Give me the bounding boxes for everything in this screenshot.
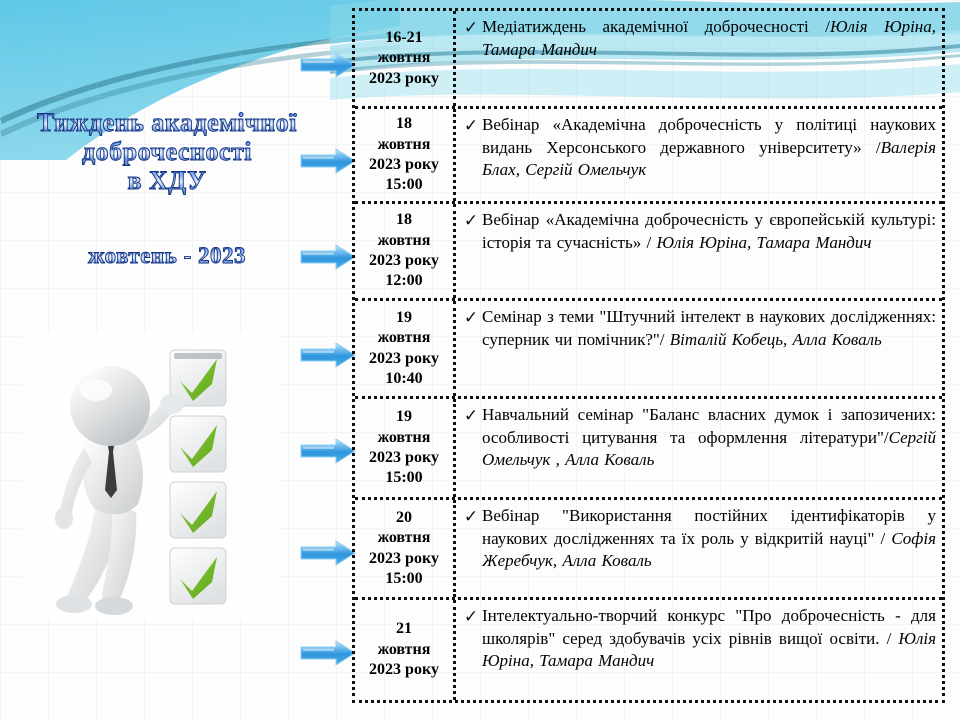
event-title: Медіатиждень академічної доброчесності / (482, 17, 830, 36)
event-date-cell: 16-21 жовтня 2023 року (355, 11, 456, 106)
date-line: 16-21 (385, 28, 422, 48)
event-description-cell: ✓ Семінар з теми "Штучний інтелект в нау… (456, 301, 942, 396)
subtitle-text: жовтень - 2023 (8, 243, 326, 269)
event-authors: Віталій Кобець, Алла Коваль (670, 330, 882, 349)
event-date-cell: 19 жовтня 2023 року 10:40 (355, 301, 456, 396)
date-line: 20 (396, 508, 412, 528)
date-line: 19 (396, 407, 412, 427)
date-line: жовтня (378, 231, 431, 251)
event-date-cell: 18 жовтня 2023 року 12:00 (355, 204, 456, 298)
event-title: Вебінар "Використання постійних ідентифі… (482, 506, 936, 548)
arrow-right-icon (300, 438, 356, 464)
table-row: 18 жовтня 2023 року 15:00 ✓ Вебінар «Ака… (355, 109, 942, 204)
schedule-table: 16-21 жовтня 2023 року ✓ Медіатиждень ак… (352, 8, 945, 703)
arrow-right-icon (300, 640, 356, 666)
date-line: 12:00 (385, 271, 422, 291)
event-title: Інтелектуально-творчий конкурс "Про добр… (482, 606, 936, 648)
event-text: Навчальний семінар "Баланс власних думок… (482, 404, 936, 472)
event-description-cell: ✓ Інтелектуально-творчий конкурс "Про до… (456, 600, 942, 700)
date-line: жовтня (378, 528, 431, 548)
checkmark-icon: ✓ (460, 505, 482, 529)
page-subtitle: жовтень - 2023 (8, 243, 326, 269)
event-date-cell: 20 жовтня 2023 року 15:00 (355, 500, 456, 597)
event-text: Вебінар «Академічна доброчесність у євро… (482, 209, 936, 254)
event-authors: Юлія Юріна, Тамара Мандич (656, 233, 871, 252)
page-title: Тиждень академічної доброчесності в ХДУ (8, 108, 326, 195)
date-line: 2023 року (369, 69, 439, 89)
date-line: 2023 року (369, 251, 439, 271)
event-date-cell: 18 жовтня 2023 року 15:00 (355, 109, 456, 201)
arrow-right-icon (300, 52, 356, 78)
event-description-cell: ✓ Медіатиждень академічної доброчесності… (456, 11, 942, 106)
presentation-slide: Тиждень академічної доброчесності в ХДУ … (0, 0, 960, 720)
title-line-1: Тиждень академічної (8, 108, 326, 137)
event-description-cell: ✓ Вебінар «Академічна доброчесність у єв… (456, 204, 942, 298)
table-row: 18 жовтня 2023 року 12:00 ✓ Вебінар «Ака… (355, 204, 942, 301)
date-line: жовтня (378, 135, 431, 155)
date-line: 15:00 (385, 468, 422, 488)
date-line: 2023 року (369, 448, 439, 468)
event-text: Семінар з теми "Штучний інтелект в науко… (482, 306, 936, 351)
event-date-cell: 21 жовтня 2023 року (355, 600, 456, 700)
checkmark-icon: ✓ (460, 404, 482, 428)
event-text: Вебінар «Академічна доброчесність у полі… (482, 114, 936, 182)
table-row: 20 жовтня 2023 року 15:00 ✓ Вебінар "Вик… (355, 500, 942, 600)
event-description-cell: ✓ Вебінар «Академічна доброчесність у по… (456, 109, 942, 201)
event-text: Медіатиждень академічної доброчесності /… (482, 16, 936, 61)
date-line: 2023 року (369, 660, 439, 680)
date-line: жовтня (378, 428, 431, 448)
checkmark-icon: ✓ (460, 209, 482, 233)
table-row: 19 жовтня 2023 року 15:00 ✓ Навчальний с… (355, 399, 942, 500)
event-date-cell: 19 жовтня 2023 року 15:00 (355, 399, 456, 497)
table-row: 19 жовтня 2023 року 10:40 ✓ Семінар з те… (355, 301, 942, 399)
date-line: 2023 року (369, 349, 439, 369)
date-line: 10:40 (385, 369, 422, 389)
event-description-cell: ✓ Навчальний семінар "Баланс власних дум… (456, 399, 942, 497)
event-description-cell: ✓ Вебінар "Використання постійних іденти… (456, 500, 942, 597)
title-line-2: доброчесності (8, 137, 326, 166)
date-line: 21 (396, 619, 412, 639)
arrow-right-icon (300, 540, 356, 566)
event-title: Навчальний семінар "Баланс власних думок… (482, 405, 936, 447)
event-text: Інтелектуально-творчий конкурс "Про добр… (482, 605, 936, 673)
table-row: 21 жовтня 2023 року ✓ Інтелектуально-тво… (355, 600, 942, 700)
checklist-illustration (22, 332, 280, 620)
date-line: 15:00 (385, 569, 422, 589)
date-line: жовтня (378, 640, 431, 660)
date-line: 18 (396, 114, 412, 134)
table-row: 16-21 жовтня 2023 року ✓ Медіатиждень ак… (355, 11, 942, 109)
title-line-3: в ХДУ (8, 166, 326, 195)
checkmark-icon: ✓ (460, 16, 482, 40)
checkmark-icon: ✓ (460, 605, 482, 629)
event-text: Вебінар "Використання постійних ідентифі… (482, 505, 936, 573)
event-title: Вебінар «Академічна доброчесність у полі… (482, 115, 936, 157)
date-line: 2023 року (369, 155, 439, 175)
date-line: жовтня (378, 48, 431, 68)
date-line: жовтня (378, 328, 431, 348)
checkmark-icon: ✓ (460, 114, 482, 138)
date-line: 19 (396, 308, 412, 328)
checkmark-icon: ✓ (460, 306, 482, 330)
date-line: 18 (396, 210, 412, 230)
date-line: 15:00 (385, 175, 422, 195)
date-line: 2023 року (369, 549, 439, 569)
arrow-right-icon (300, 342, 356, 368)
